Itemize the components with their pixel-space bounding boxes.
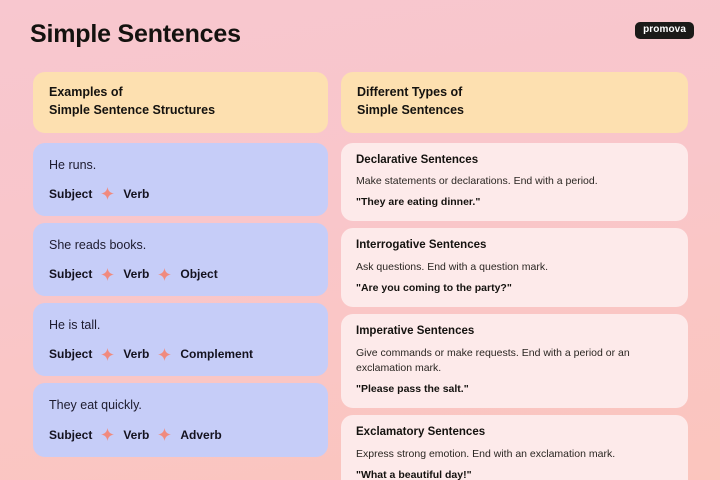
structure-example-sentence: He runs. bbox=[49, 157, 312, 173]
formula-part: Verb bbox=[123, 187, 149, 201]
structure-card[interactable]: She reads books. Subject Verb Object bbox=[33, 223, 328, 296]
sentence-type-description: Ask questions. End with a question mark. bbox=[356, 260, 673, 275]
sentence-type-card[interactable]: Declarative Sentences Make statements or… bbox=[341, 143, 688, 222]
formula-part: Object bbox=[180, 267, 217, 281]
sentence-type-description: Give commands or make requests. End with… bbox=[356, 346, 673, 376]
types-header-line-1: Different Types of bbox=[357, 84, 672, 102]
plus-icon bbox=[101, 428, 114, 441]
formula-part: Subject bbox=[49, 347, 92, 361]
promova-logo: promova bbox=[635, 22, 694, 39]
sentence-type-description: Express strong emotion. End with an excl… bbox=[356, 447, 673, 462]
formula-part: Verb bbox=[123, 347, 149, 361]
examples-header-line-2: Simple Sentence Structures bbox=[49, 102, 312, 120]
structure-formula: Subject Verb bbox=[49, 187, 312, 201]
structure-card[interactable]: He is tall. Subject Verb Complement bbox=[33, 303, 328, 376]
sentence-type-example: "What a beautiful day!" bbox=[356, 468, 673, 480]
structure-formula: Subject Verb Complement bbox=[49, 347, 312, 361]
sentence-type-card[interactable]: Interrogative Sentences Ask questions. E… bbox=[341, 228, 688, 307]
plus-icon bbox=[101, 348, 114, 361]
plus-icon bbox=[158, 268, 171, 281]
formula-part: Verb bbox=[123, 267, 149, 281]
structure-card[interactable]: He runs. Subject Verb bbox=[33, 143, 328, 216]
examples-header-line-1: Examples of bbox=[49, 84, 312, 102]
examples-column: Examples of Simple Sentence Structures H… bbox=[33, 72, 328, 464]
structure-example-sentence: She reads books. bbox=[49, 237, 312, 253]
examples-column-header: Examples of Simple Sentence Structures bbox=[33, 72, 328, 133]
formula-part: Complement bbox=[180, 347, 253, 361]
plus-icon bbox=[158, 348, 171, 361]
plus-icon bbox=[158, 428, 171, 441]
plus-icon bbox=[101, 268, 114, 281]
structure-example-sentence: They eat quickly. bbox=[49, 397, 312, 413]
structure-formula: Subject Verb Adverb bbox=[49, 428, 312, 442]
sentence-type-title: Exclamatory Sentences bbox=[356, 426, 673, 440]
sentence-type-example: "Are you coming to the party?" bbox=[356, 281, 673, 295]
formula-part: Adverb bbox=[180, 428, 221, 442]
sentence-type-example: "They are eating dinner." bbox=[356, 195, 673, 209]
page-title: Simple Sentences bbox=[30, 20, 241, 49]
sentence-type-card[interactable]: Exclamatory Sentences Express strong emo… bbox=[341, 415, 688, 480]
structure-example-sentence: He is tall. bbox=[49, 317, 312, 333]
formula-part: Subject bbox=[49, 187, 92, 201]
structure-formula: Subject Verb Object bbox=[49, 267, 312, 281]
sentence-type-title: Declarative Sentences bbox=[356, 154, 673, 168]
formula-part: Subject bbox=[49, 267, 92, 281]
structure-card[interactable]: They eat quickly. Subject Verb Adverb bbox=[33, 383, 328, 456]
sentence-type-example: "Please pass the salt." bbox=[356, 382, 673, 396]
sentence-type-card[interactable]: Imperative Sentences Give commands or ma… bbox=[341, 314, 688, 408]
plus-icon bbox=[101, 187, 114, 200]
types-column: Different Types of Simple Sentences Decl… bbox=[341, 72, 688, 480]
formula-part: Verb bbox=[123, 428, 149, 442]
sentence-type-title: Imperative Sentences bbox=[356, 325, 673, 339]
types-column-header: Different Types of Simple Sentences bbox=[341, 72, 688, 133]
formula-part: Subject bbox=[49, 428, 92, 442]
types-header-line-2: Simple Sentences bbox=[357, 102, 672, 120]
sentence-type-description: Make statements or declarations. End wit… bbox=[356, 174, 673, 189]
sentence-type-title: Interrogative Sentences bbox=[356, 239, 673, 253]
